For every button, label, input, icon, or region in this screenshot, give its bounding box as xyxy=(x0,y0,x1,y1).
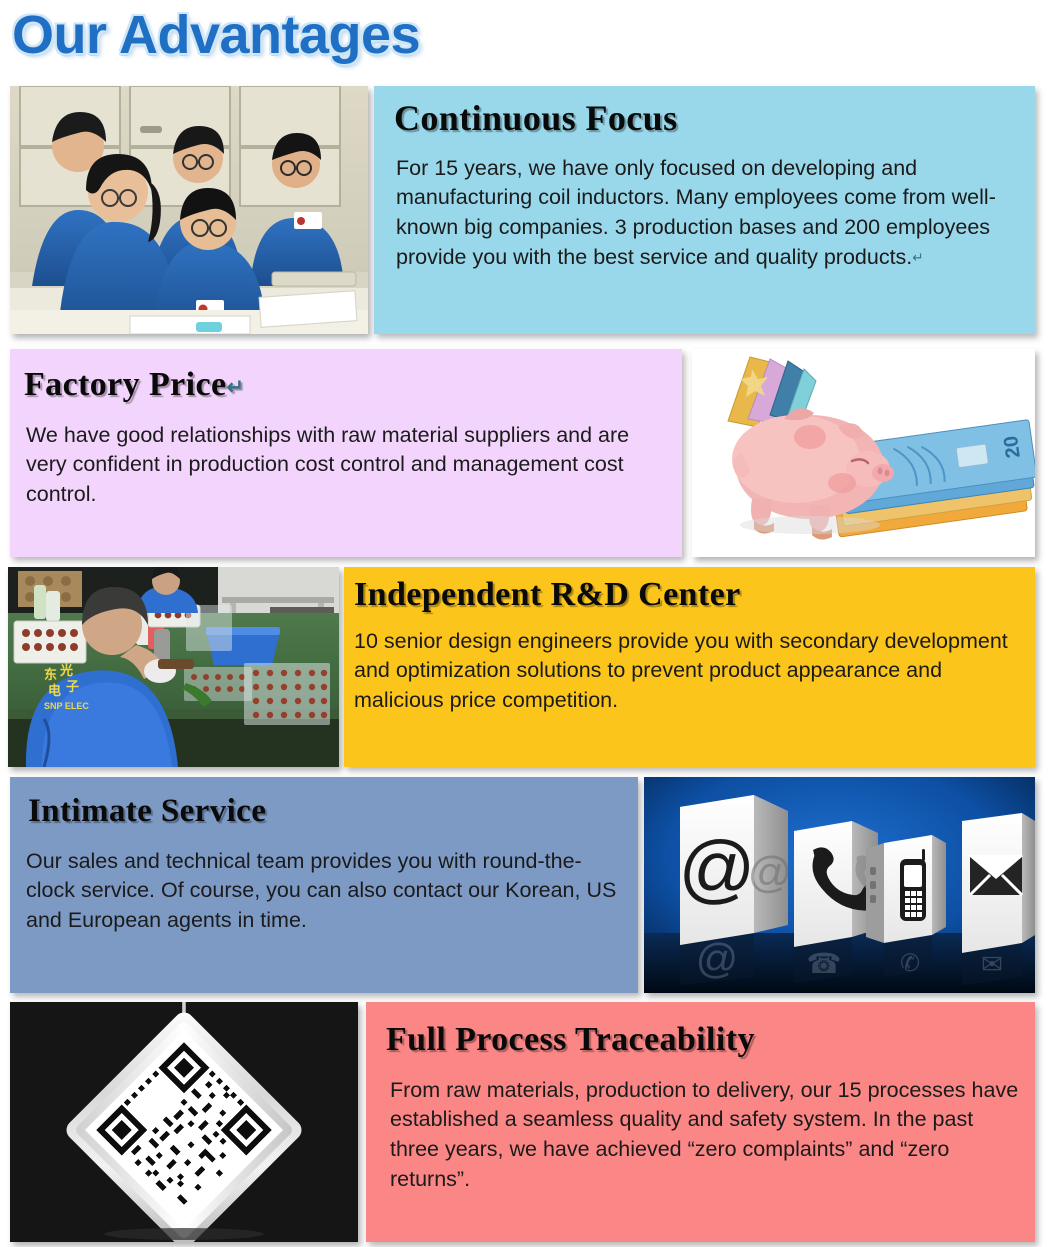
block-body: We have good relationships with raw mate… xyxy=(26,421,666,510)
page-title: Our Advantages xyxy=(12,4,420,66)
block-continuous-focus: Continuous Focus For 15 years, we have o… xyxy=(374,86,1035,334)
svg-text:@: @ xyxy=(748,848,793,897)
svg-text:@: @ xyxy=(696,935,739,982)
svg-text:电: 电 xyxy=(48,683,61,698)
block-body-text: For 15 years, we have only focused on de… xyxy=(396,156,996,269)
block-factory-price: Factory Price↵ We have good relationship… xyxy=(10,349,682,557)
svg-text:子: 子 xyxy=(66,679,79,694)
block-heading: Independent R&D Center xyxy=(354,577,1035,613)
svg-text:东: 东 xyxy=(44,667,57,682)
advantages-infographic: Our Advantages xyxy=(0,0,1059,1247)
qr-code-tag-photo xyxy=(10,1002,358,1242)
block-heading-text: Factory Price xyxy=(24,366,226,403)
block-heading: Full Process Traceability xyxy=(386,1022,1035,1058)
block-heading: Intimate Service xyxy=(28,794,638,829)
block-heading: Factory Price↵ xyxy=(24,367,682,403)
block-full-process-traceability: Full Process Traceability From raw mater… xyxy=(366,1002,1035,1242)
paragraph-mark-icon: ↵ xyxy=(226,375,244,399)
block-independent-rd-center: Independent R&D Center 10 senior design … xyxy=(344,567,1035,767)
block-body: 10 senior design engineers provide you w… xyxy=(354,627,1027,716)
svg-text:20: 20 xyxy=(1000,434,1025,459)
svg-text:✉: ✉ xyxy=(981,949,1003,979)
block-body: For 15 years, we have only focused on de… xyxy=(396,154,1011,273)
block-intimate-service: Intimate Service Our sales and technical… xyxy=(10,777,638,993)
block-body: Our sales and technical team provides yo… xyxy=(26,847,628,936)
production-line-photo: 东光电子 SNP ELEC xyxy=(8,567,339,767)
svg-text:@: @ xyxy=(678,826,755,911)
factory-team-photo xyxy=(10,86,368,334)
svg-text:✆: ✆ xyxy=(900,950,920,977)
svg-text:☎: ☎ xyxy=(807,948,842,979)
paragraph-mark-icon: ↵ xyxy=(912,250,923,265)
block-body: From raw materials, production to delive… xyxy=(390,1076,1021,1195)
piggy-bank-euros-photo: 20 20 xyxy=(692,349,1035,557)
block-heading: Continuous Focus xyxy=(394,100,1035,138)
svg-text:光: 光 xyxy=(59,663,73,678)
contact-icon-cubes-photo: @ @ xyxy=(644,777,1035,993)
svg-text:SNP ELEC: SNP ELEC xyxy=(44,701,89,711)
